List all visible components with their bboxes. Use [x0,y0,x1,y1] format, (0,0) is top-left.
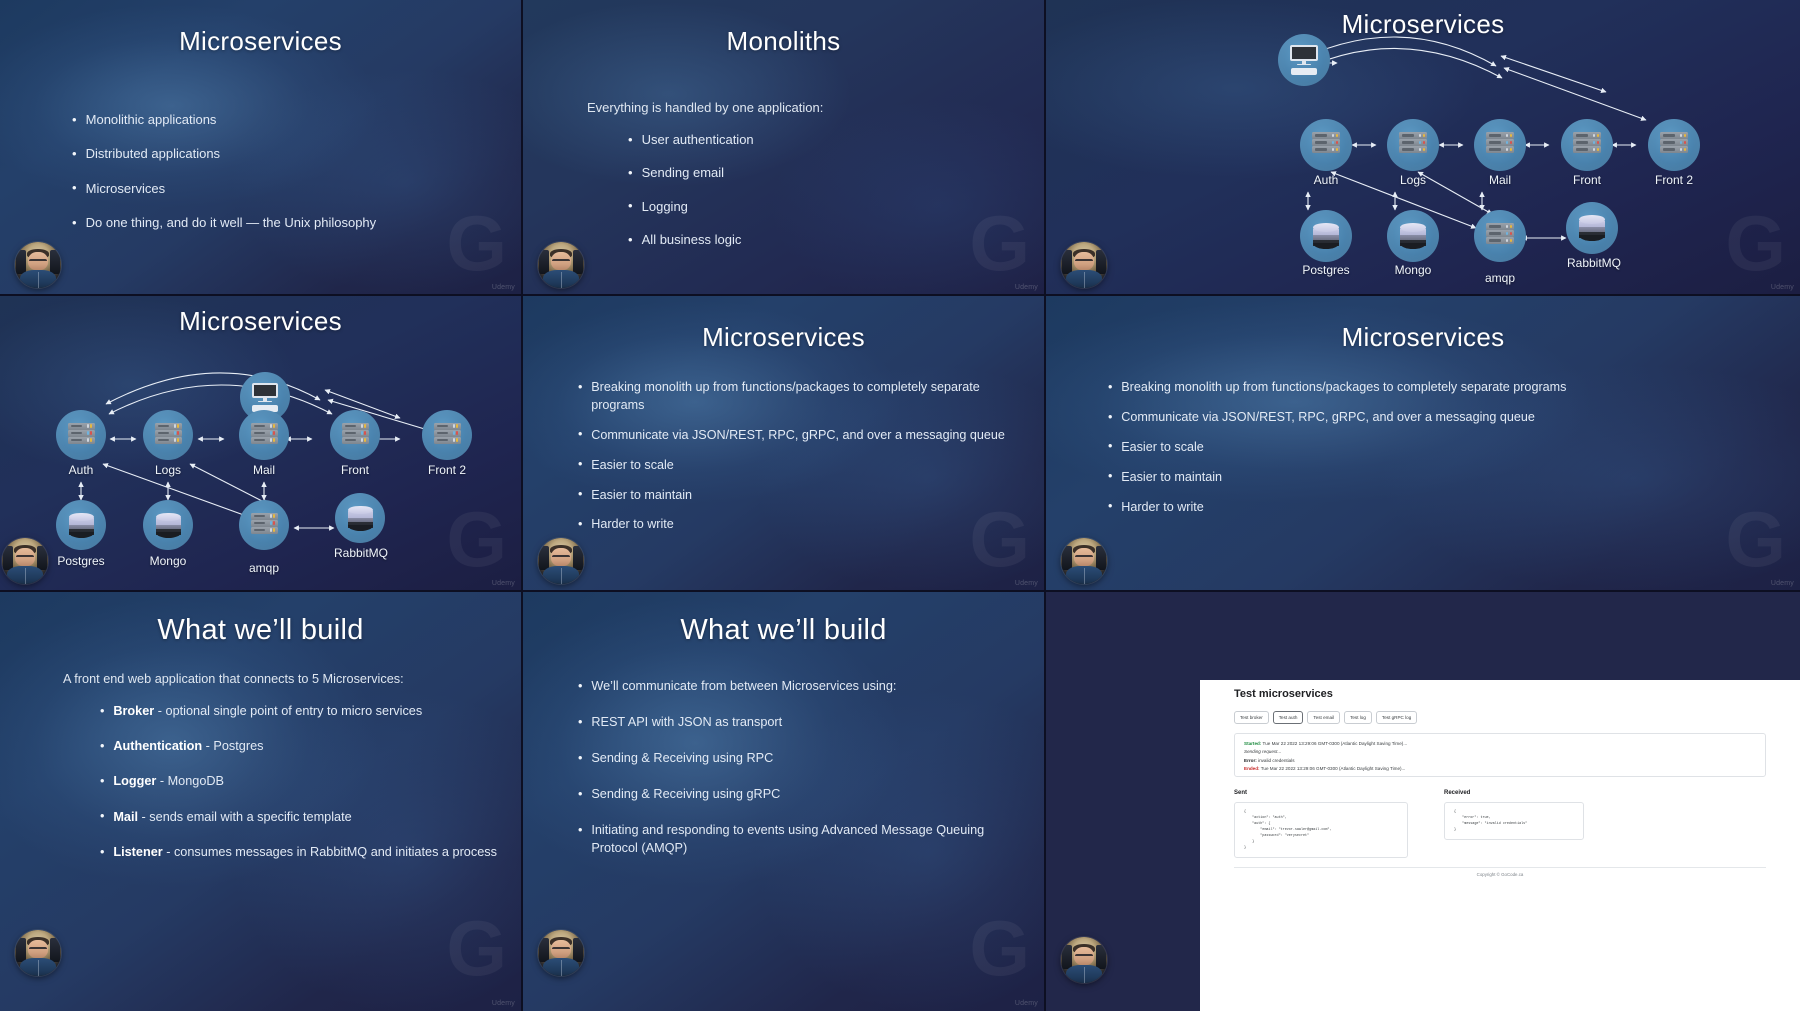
server-icon [1486,223,1514,249]
slide-tile-what-well-build-2[interactable]: What we’ll build We’ll communicate from … [523,592,1044,1011]
bullet-list: Breaking monolith up from functions/pack… [1108,379,1680,516]
log-line-ended: Ended: Tue Mar 22 2022 13:29:06 GMT-0300… [1244,765,1756,773]
list-item: Communicate via JSON/REST, RPC, gRPC, an… [1108,409,1680,427]
brand-watermark-g: G [446,508,505,572]
diagram-node-mail[interactable] [239,410,289,460]
database-icon [69,513,94,538]
bullet-list: User authentication Sending email Loggin… [628,133,1014,247]
diagram-label-auth: Auth [56,463,106,477]
slide-tile-microservices-benefits-2[interactable]: Microservices Breaking monolith up from … [1046,296,1800,590]
presenter-webcam [1061,242,1107,288]
server-icon [1399,132,1427,158]
architecture-diagram: Auth Logs Mail [0,296,521,590]
presenter-webcam [538,242,584,288]
list-item: Easier to scale [1108,439,1680,457]
bullet-list: We’ll communicate from between Microserv… [578,677,1016,857]
diagram-label-auth: Auth [1300,173,1352,187]
diagram-node-amqp[interactable] [1474,210,1526,262]
received-payload-card: { "error": true, "message": "invalid cre… [1444,802,1584,840]
diagram-node-front[interactable] [330,410,380,460]
diagram-node-auth[interactable] [1300,119,1352,171]
output-log-card: Started: Tue Mar 22 2022 13:29:06 GMT-03… [1234,733,1766,777]
server-icon [1486,132,1514,158]
list-item-rest: - optional single point of entry to micr… [154,704,422,718]
list-item: Microservices [72,182,491,196]
udemy-watermark: Udemy [1771,580,1794,587]
bullet-list: Monolithic applications Distributed appl… [72,113,491,230]
list-item-rest: - MongoDB [156,774,224,788]
list-item: Breaking monolith up from functions/pack… [578,379,1016,415]
udemy-watermark: Udemy [1015,1000,1038,1007]
architecture-diagram: Auth Logs Mail [1046,0,1800,294]
list-item: Easier to maintain [1108,469,1680,487]
diagram-label-mail: Mail [1474,173,1526,187]
list-item: User authentication [628,133,1014,147]
list-item: Easier to maintain [578,487,1016,505]
grid-divider-horizontal [0,294,1800,296]
test-log-button[interactable]: Test log [1344,711,1372,724]
database-icon [348,506,373,531]
list-item: Logger - MongoDB [100,774,503,789]
diagram-node-postgres[interactable] [56,500,106,550]
log-line-sending: Sending request... [1244,748,1756,756]
server-icon [434,423,461,448]
grid-divider-horizontal [0,590,1800,592]
received-payload-json: { "error": true, "message": "invalid cre… [1454,810,1574,834]
presenter-webcam [1061,937,1107,983]
server-icon [1573,132,1601,158]
server-icon [251,513,278,538]
diagram-label-rabbitmq: RabbitMQ [326,546,396,560]
list-item: Sending email [628,166,1014,180]
list-item: Breaking monolith up from functions/pack… [1108,379,1680,397]
presenter-webcam [2,538,48,584]
page-title: Microservices [523,322,1044,353]
server-icon [1312,132,1340,158]
brand-watermark-g: G [446,917,505,981]
sent-payload-card: { "action": "auth", "auth": { "email": "… [1234,802,1408,858]
brand-watermark-g: G [446,212,505,276]
slide-tile-architecture-top[interactable]: Microservices [1046,0,1800,294]
diagram-label-mail: Mail [239,463,289,477]
log-error-label: Error: [1244,758,1257,763]
slide-tile-monoliths[interactable]: Monoliths Everything is handled by one a… [523,0,1044,294]
page-title: Monoliths [523,26,1044,57]
page-title: What we’ll build [523,614,1044,647]
udemy-watermark: Udemy [492,580,515,587]
diagram-label-front: Front [1561,173,1613,187]
udemy-watermark: Udemy [1015,580,1038,587]
diagram-node-postgres[interactable] [1300,210,1352,262]
diagram-node-mail[interactable] [1474,119,1526,171]
sent-payload-json: { "action": "auth", "auth": { "email": "… [1244,810,1398,852]
presenter-webcam [15,242,61,288]
diagram-label-logs: Logs [1387,173,1439,187]
list-item-term: Listener [113,845,162,859]
udemy-watermark: Udemy [492,284,515,291]
list-item-term: Logger [113,774,156,788]
browser-tile[interactable]: Test microservices Test broker Test auth… [1046,592,1800,1011]
diagram-label-mongo: Mongo [1381,263,1445,277]
bullet-list: Breaking monolith up from functions/pack… [578,379,1016,534]
slide-tile-microservices-benefits-1[interactable]: Microservices Breaking monolith up from … [523,296,1044,590]
sent-column-title: Sent [1234,790,1247,796]
server-icon [342,423,369,448]
list-item-term: Authentication [113,739,202,753]
presenter-webcam [15,930,61,976]
list-item-rest: - sends email with a specific template [138,810,352,824]
test-button-row: Test broker Test auth Test email Test lo… [1234,711,1417,724]
list-item: Authentication - Postgres [100,739,503,754]
diagram-label-postgres: Postgres [48,554,114,568]
brand-watermark-g: G [1725,508,1784,572]
database-icon [1579,215,1605,241]
diagram-node-front2[interactable] [422,410,472,460]
list-item: Harder to write [1108,499,1680,517]
list-item-rest: - Postgres [202,739,263,753]
monitor-icon [251,383,280,412]
list-item: Listener - consumes messages in RabbitMQ… [100,845,503,860]
presenter-webcam [1061,538,1107,584]
diagram-node-rabbitmq[interactable] [335,493,385,543]
log-ended-value: Tue Mar 22 2022 13:29:06 GMT-0300 (Atlan… [1260,766,1406,771]
diagram-node-front[interactable] [1561,119,1613,171]
grid-divider-vertical [1044,0,1046,1011]
log-line-started: Started: Tue Mar 22 2022 13:29:06 GMT-03… [1244,740,1756,748]
log-started-label: Started: [1244,741,1261,746]
list-item: We’ll communicate from between Microserv… [578,677,1016,695]
browser-heading: Test microservices [1234,688,1333,700]
test-email-button[interactable]: Test email [1307,711,1340,724]
diagram-node-mongo[interactable] [143,500,193,550]
diagram-node-mongo[interactable] [1387,210,1439,262]
bullet-list: Broker - optional single point of entry … [100,704,503,860]
server-icon [68,423,95,448]
brand-watermark-g: G [969,917,1028,981]
footer-divider [1234,867,1766,868]
lead-text: A front end web application that connect… [63,672,404,686]
monitor-icon [1289,45,1319,75]
diagram-node-client[interactable] [1278,34,1330,86]
diagram-node-auth[interactable] [56,410,106,460]
page-title: Microservices [0,26,521,57]
list-item: Initiating and responding to events usin… [578,821,1016,857]
diagram-label-logs: Logs [143,463,193,477]
browser-window[interactable]: Test microservices Test broker Test auth… [1200,680,1800,1011]
list-item: Harder to write [578,516,1016,534]
diagram-label-postgres: Postgres [1292,263,1360,277]
page-title: What we’ll build [0,614,521,647]
diagram-node-front2[interactable] [1648,119,1700,171]
list-item: All business logic [628,233,1014,247]
udemy-watermark: Udemy [1015,284,1038,291]
database-icon [156,513,181,538]
diagram-label-front: Front [330,463,380,477]
diagram-node-logs[interactable] [1387,119,1439,171]
database-icon [1400,223,1426,249]
log-ended-label: Ended: [1244,766,1260,771]
test-auth-button[interactable]: Test auth [1273,711,1304,724]
list-item-rest: - consumes messages in RabbitMQ and init… [163,845,497,859]
server-icon [155,423,182,448]
test-broker-button[interactable]: Test broker [1234,711,1269,724]
list-item: Monolithic applications [72,113,491,127]
list-item: Communicate via JSON/REST, RPC, gRPC, an… [578,427,1016,445]
list-item: Distributed applications [72,147,491,161]
diagram-label-rabbitmq: RabbitMQ [1558,256,1630,270]
brand-watermark-g: G [1725,212,1784,276]
list-item: Do one thing, and do it well — the Unix … [72,216,491,230]
slide-tile-microservices-intro[interactable]: Microservices Monolithic applications Di… [0,0,521,294]
log-error-value: invalid credentials [1257,758,1295,763]
screenshot-root: Microservices Monolithic applications Di… [0,0,1800,1011]
diagram-label-front2: Front 2 [414,463,480,477]
log-started-value: Tue Mar 22 2022 13:29:06 GMT-0300 (Atlan… [1261,741,1407,746]
list-item: Broker - optional single point of entry … [100,704,503,719]
brand-watermark-g: G [969,508,1028,572]
list-item: Sending & Receiving using RPC [578,749,1016,767]
slide-tile-what-well-build-1[interactable]: What we’ll build A front end web applica… [0,592,521,1011]
page-title: Microservices [1046,322,1800,353]
diagram-label-amqp: amqp [239,561,289,575]
list-item-term: Broker [113,704,154,718]
test-grpc-log-button[interactable]: Test gRPC log [1376,711,1417,724]
list-item: Sending & Receiving using gRPC [578,785,1016,803]
log-line-error: Error: invalid credentials [1244,757,1756,765]
diagram-node-amqp[interactable] [239,500,289,550]
browser-content: Test microservices Test broker Test auth… [1200,680,1800,1011]
list-item: Easier to scale [578,457,1016,475]
diagram-node-rabbitmq[interactable] [1566,202,1618,254]
database-icon [1313,223,1339,249]
list-item: Logging [628,200,1014,214]
server-icon [251,423,278,448]
diagram-label-mongo: Mongo [137,554,199,568]
grid-divider-vertical [521,0,523,1011]
diagram-label-front2: Front 2 [1648,173,1700,187]
server-icon [1660,132,1688,158]
lead-text: Everything is handled by one application… [587,100,823,115]
brand-watermark-g: G [969,212,1028,276]
udemy-watermark: Udemy [492,1000,515,1007]
diagram-label-amqp: amqp [1474,271,1526,285]
udemy-watermark: Udemy [1771,284,1794,291]
presenter-webcam [538,930,584,976]
copyright-footer: Copyright © GoCode.ca [1234,872,1766,877]
list-item: Mail - sends email with a specific templ… [100,810,503,825]
received-column-title: Received [1444,790,1470,796]
list-item-term: Mail [113,810,138,824]
slide-tile-architecture-bottom[interactable]: Microservices [0,296,521,590]
diagram-node-logs[interactable] [143,410,193,460]
list-item: REST API with JSON as transport [578,713,1016,731]
presenter-webcam [538,538,584,584]
